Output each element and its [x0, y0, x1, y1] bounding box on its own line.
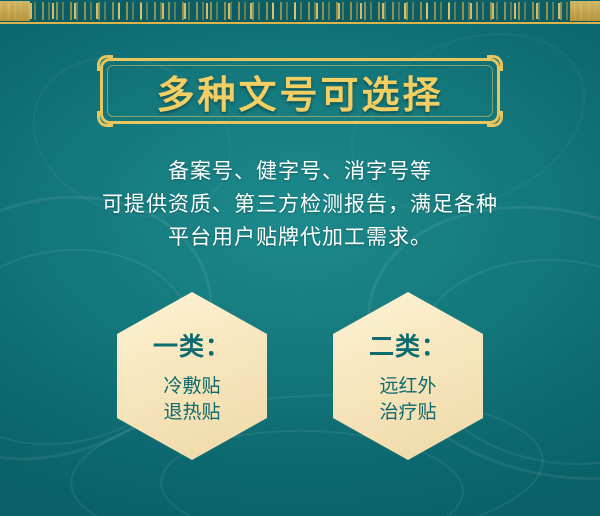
page-title: 多种文号可选择	[100, 58, 500, 124]
description-line-1: 备案号、健字号、消字号等	[0, 155, 600, 188]
ornamental-top-border	[0, 0, 600, 24]
category-1-item-1: 冷敷贴	[163, 373, 220, 399]
description-line-2: 可提供资质、第三方检测报告，满足各种	[0, 188, 600, 221]
description-line-3: 平台用户贴牌代加工需求。	[0, 221, 600, 254]
category-hexagon-2: 二类： 远红外 治疗贴	[333, 292, 483, 460]
category-1-title: 一类：	[153, 327, 231, 363]
category-2-title: 二类：	[369, 327, 447, 363]
category-hexagon-1: 一类： 冷敷贴 退热贴	[117, 292, 267, 460]
border-corner-left-icon	[0, 1, 30, 21]
border-pattern-frets	[0, 3, 600, 19]
category-2-item-2: 治疗贴	[379, 399, 436, 425]
category-2-item-1: 远红外	[379, 373, 436, 399]
category-hexagon-row: 一类： 冷敷贴 退热贴 二类： 远红外 治疗贴	[0, 292, 600, 460]
category-1-item-2: 退热贴	[163, 399, 220, 425]
poster-root: 多种文号可选择 备案号、健字号、消字号等 可提供资质、第三方检测报告，满足各种 …	[0, 0, 600, 516]
description-block: 备案号、健字号、消字号等 可提供资质、第三方检测报告，满足各种 平台用户贴牌代加…	[0, 155, 600, 254]
title-plaque: 多种文号可选择	[100, 58, 500, 124]
border-corner-right-icon	[570, 1, 600, 21]
